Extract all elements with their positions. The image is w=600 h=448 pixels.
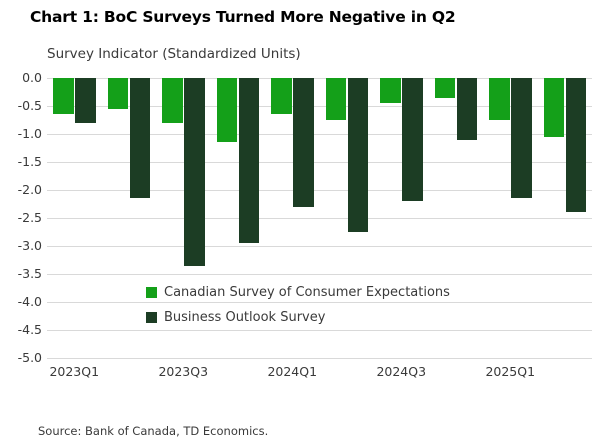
bar-cse: [544, 78, 565, 137]
y-axis-subtitle: Survey Indicator (Standardized Units): [47, 46, 301, 62]
legend-swatch-icon-cse: [146, 287, 157, 298]
bar-bos: [130, 78, 151, 198]
y-axis-tick: -3.5: [2, 268, 42, 281]
bar-bos: [348, 78, 369, 232]
y-axis-tick: -4.5: [2, 324, 42, 337]
bar-cse: [162, 78, 183, 123]
source-note: Source: Bank of Canada, TD Economics.: [38, 424, 268, 438]
y-axis-tick-labels: 0.0-0.5-1.0-1.5-2.0-2.5-3.0-3.5-4.0-4.5-…: [0, 78, 42, 358]
y-axis-tick: -1.0: [2, 128, 42, 141]
legend-swatch-icon-bos: [146, 312, 157, 323]
legend-item-cse: Canadian Survey of Consumer Expectations: [146, 285, 450, 300]
y-axis-tick: 0.0: [2, 72, 42, 85]
y-axis-tick: -5.0: [2, 352, 42, 365]
x-axis-tick-labels: 2023Q12023Q32024Q12024Q32025Q1: [47, 364, 592, 386]
bar-bos: [293, 78, 314, 207]
bar-bos: [239, 78, 260, 243]
bar-bos: [75, 78, 96, 123]
bar-bos: [184, 78, 205, 266]
x-axis-tick: 2025Q1: [485, 364, 535, 379]
chart-title: Chart 1: BoC Surveys Turned More Negativ…: [30, 8, 455, 26]
y-axis-tick: -3.0: [2, 240, 42, 253]
y-axis-tick: -0.5: [2, 100, 42, 113]
y-axis-tick: -2.0: [2, 184, 42, 197]
bar-cse: [217, 78, 238, 142]
bar-cse: [108, 78, 129, 109]
bar-cse: [271, 78, 292, 114]
bar-cse: [380, 78, 401, 103]
x-axis-tick: 2023Q3: [158, 364, 208, 379]
bar-bos: [402, 78, 423, 201]
legend-item-bos: Business Outlook Survey: [146, 310, 450, 325]
bar-cse: [489, 78, 510, 120]
y-axis-tick: -4.0: [2, 296, 42, 309]
bar-group: [483, 78, 538, 358]
x-axis-tick: 2024Q3: [376, 364, 426, 379]
bar-bos: [566, 78, 587, 212]
bar-bos: [457, 78, 478, 140]
gridline: [47, 358, 592, 359]
x-axis-tick: 2023Q1: [49, 364, 99, 379]
legend-label-bos: Business Outlook Survey: [164, 310, 325, 325]
bar-cse: [435, 78, 456, 98]
chart-legend: Canadian Survey of Consumer Expectations…: [146, 285, 450, 335]
bar-group: [47, 78, 102, 358]
y-axis-tick: -1.5: [2, 156, 42, 169]
x-axis-tick: 2024Q1: [267, 364, 317, 379]
chart-container: Chart 1: BoC Surveys Turned More Negativ…: [0, 0, 600, 448]
bar-cse: [326, 78, 347, 120]
y-axis-tick: -2.5: [2, 212, 42, 225]
legend-label-cse: Canadian Survey of Consumer Expectations: [164, 285, 450, 300]
bar-bos: [511, 78, 532, 198]
bar-group: [538, 78, 593, 358]
bar-cse: [53, 78, 74, 114]
